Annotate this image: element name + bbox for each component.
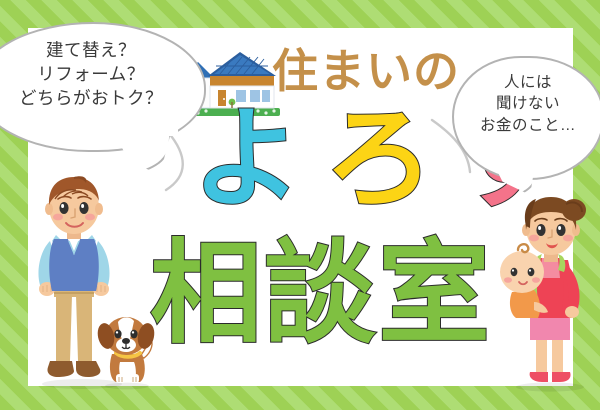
banner-root: 住まいの よ ろ ず 相談室 建て替え？ リフォーム？ どちらがおトク？ 人には… [0,0,600,410]
title-char-yo: よ [192,108,302,213]
speech-bubble-left-tail-mask [104,120,178,136]
speech-bubble-right-text: 人には 聞けない お金のこと… [452,72,600,136]
title-top-text: 住まいの [272,48,460,94]
dog-character-illustration [96,312,158,390]
title-bottom-text: 相談室 [150,238,492,350]
title-char-ro: ろ [324,108,434,213]
speech-bubble-right-tail-mask [488,150,544,164]
woman-with-baby-illustration [490,196,594,392]
speech-bubble-left-text: 建て替え？ リフォーム？ どちらがおトク？ [0,38,196,110]
